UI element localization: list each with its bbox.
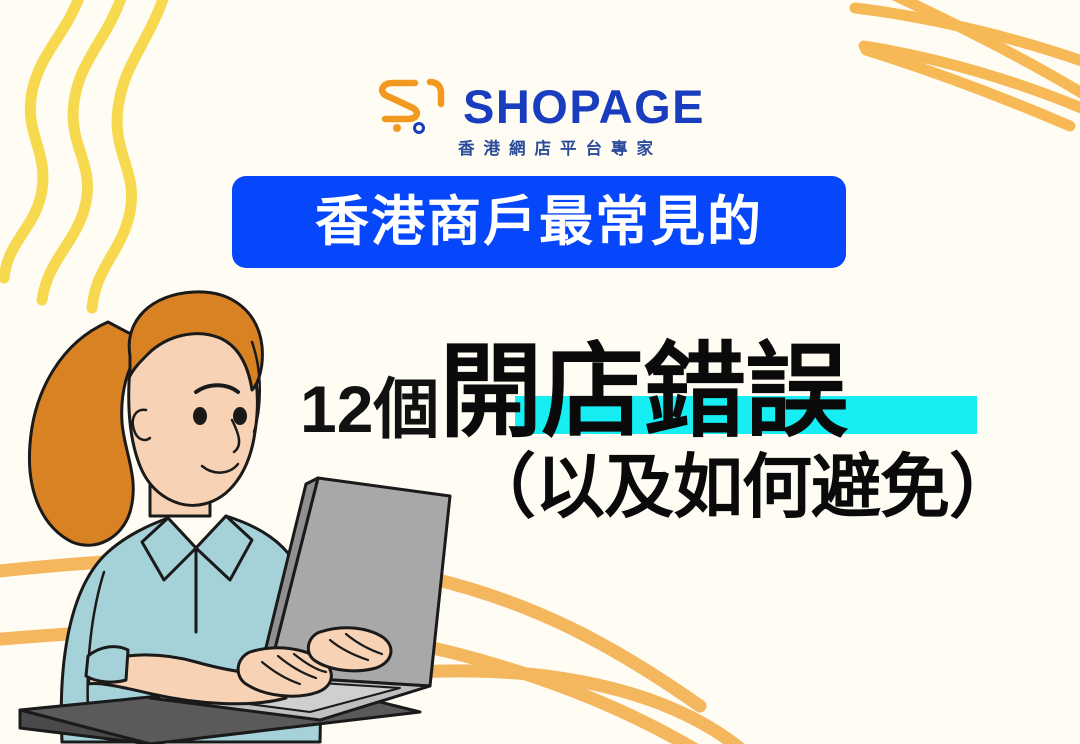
hand-right [308, 628, 391, 671]
logo-wordmark: SHOPAGE [463, 83, 705, 130]
subtitle-label: （以及如何避免） [466, 452, 1018, 522]
headline-block: 12個 開店錯誤 [300, 322, 1000, 442]
eye-left [193, 407, 207, 425]
logo-row: SHOPAGE [375, 78, 705, 134]
shopping-cart-icon [375, 78, 449, 134]
headline-count: 12個 [300, 377, 439, 442]
banner-label: 香港商戶最常見的 [315, 195, 763, 249]
cart-wheel-right [414, 124, 423, 133]
shirt-cuff [86, 647, 128, 682]
headline-row: 12個 開店錯誤 [300, 322, 1000, 442]
poster-canvas: SHOPAGE 香港網店平台專家 香港商戶最常見的 12個 開店錯誤 （以及如何… [0, 0, 1080, 744]
subtitle-block: （以及如何避免） [466, 444, 1066, 530]
eye-right [233, 407, 247, 425]
cart-wheel-left [393, 124, 401, 132]
brand-logo: SHOPAGE 香港網店平台專家 [0, 78, 1080, 158]
blue-banner: 香港商戶最常見的 [232, 176, 846, 268]
headline-emphasis: 開店錯誤 [439, 343, 847, 442]
diagonal-stroke-1 [855, 8, 1080, 66]
logo-tagline: 香港網店平台專家 [458, 141, 662, 158]
